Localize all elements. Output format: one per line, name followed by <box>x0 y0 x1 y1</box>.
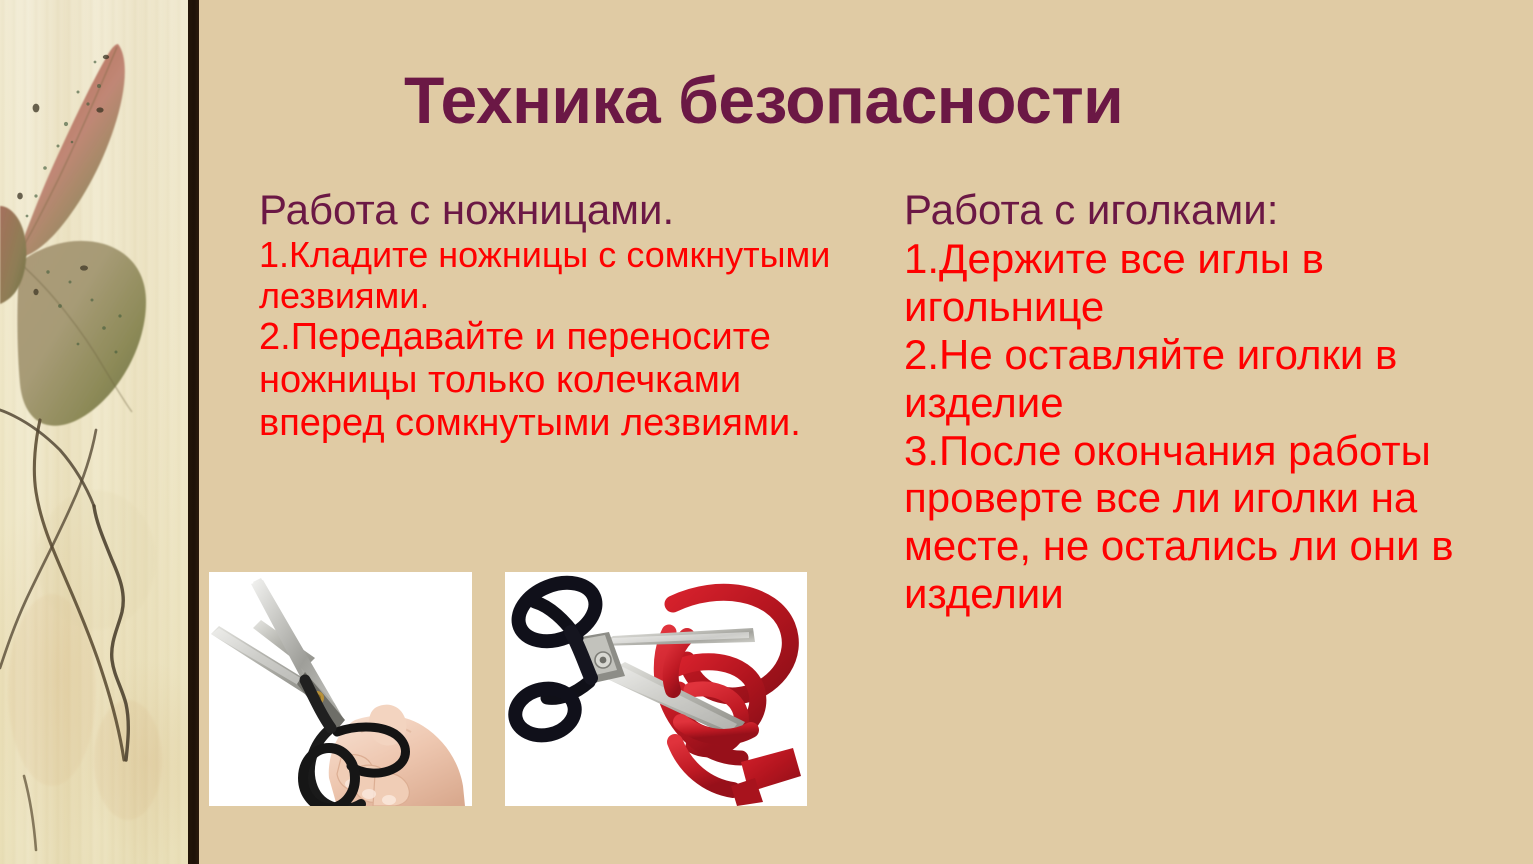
right-column-heading: Работа с иголками: <box>904 186 1504 233</box>
panel-divider <box>188 0 199 864</box>
left-rule-item-1: 1.Кладите ножницы с сомкнутыми лезвиями. <box>259 235 839 316</box>
hand-holding-scissors-photo <box>209 572 472 806</box>
left-text-column: Работа с ножницами. 1.Кладите ножницы с … <box>259 186 839 445</box>
scissors-cutting-red-ribbon-photo <box>505 572 807 806</box>
decorative-left-panel <box>0 0 188 864</box>
right-rule-item-2: 2.Не оставляйте иголки в изделие <box>904 331 1504 427</box>
right-text-column: Работа с иголками: 1.Держите все иглы в … <box>904 186 1504 618</box>
presentation-slide: Техника безопасности Работа с ножницами.… <box>0 0 1533 864</box>
page-title: Техника безопасности <box>404 66 1514 135</box>
left-column-heading: Работа с ножницами. <box>259 186 839 233</box>
botanical-leaf-icon <box>0 0 188 864</box>
left-rule-item-2: 2.Передавайте и переносите ножницы тольк… <box>259 316 839 445</box>
right-rule-item-1: 1.Держите все иглы в игольнице <box>904 235 1504 331</box>
right-rule-item-3: 3.После окончания работы проверте все ли… <box>904 427 1504 619</box>
